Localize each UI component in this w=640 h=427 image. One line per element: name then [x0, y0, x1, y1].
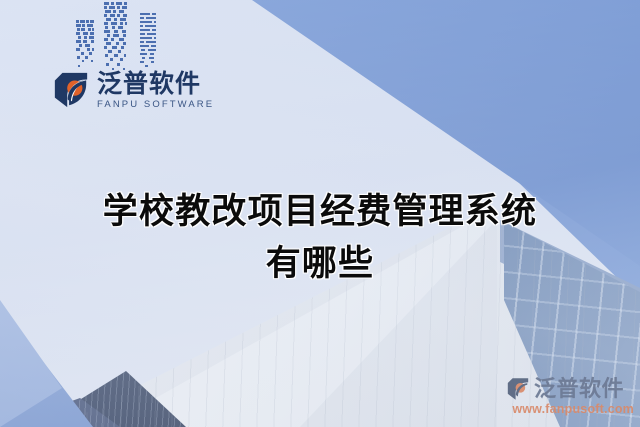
page-title: 学校教改项目经费管理系统 有哪些: [0, 186, 640, 290]
promo-banner: 泛普软件 FANPU SOFTWARE 学校教改项目经费管理系统 有哪些 泛普软…: [0, 0, 640, 427]
brand-logo: 泛普软件 FANPU SOFTWARE: [52, 68, 214, 112]
headline-line-2: 有哪些: [0, 238, 640, 290]
brand-name-cn: 泛普软件: [97, 71, 214, 98]
fanpu-hexagon-swoosh-logo-icon: [52, 71, 90, 109]
headline-line-1: 学校教改项目经费管理系统: [0, 186, 640, 238]
brand-name-en: FANPU SOFTWARE: [97, 100, 214, 110]
watermark-url: www.fanpusoft.com: [506, 403, 634, 416]
watermark-logo-row: 泛普软件: [506, 377, 634, 401]
watermark: 泛普软件 www.fanpusoft.com: [506, 377, 634, 416]
brand-logo-wordmark: 泛普软件 FANPU SOFTWARE: [97, 71, 214, 110]
pixel-tower-skyline-icon: [76, 2, 196, 74]
fanpu-hexagon-swoosh-logo-icon: [506, 377, 530, 401]
watermark-name-cn: 泛普软件: [534, 378, 624, 400]
